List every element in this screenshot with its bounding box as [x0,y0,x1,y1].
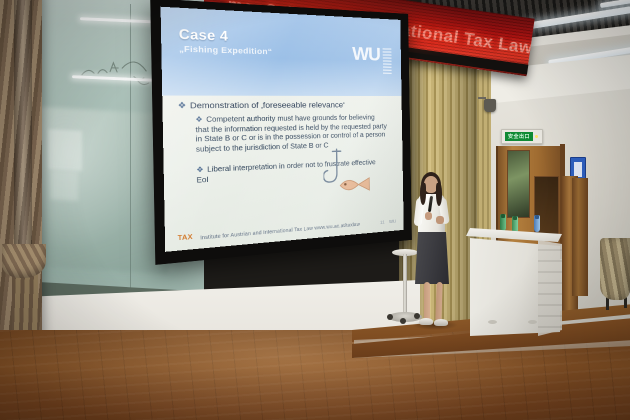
wall-speaker-icon [484,99,496,112]
slide-title: Case 4 [179,26,229,44]
blue-wall-sign-inner [574,162,582,177]
presenter-hand-left [425,212,432,220]
stool-caster [400,318,406,324]
bullet-marker: ❖ [195,116,202,124]
presenter-skirt [415,232,449,284]
footer-logo: TAX [178,234,193,242]
curtain-tieback [2,244,46,278]
water-bottle [500,214,506,231]
lecture-hall-photo: 安全出口 mer School of International Tax Law… [0,0,630,420]
podium-foot [528,320,537,324]
bullet-marker: ❖ [178,100,187,110]
exit-sign: 安全出口 [501,129,543,144]
whiteboard-handwriting [77,57,158,92]
footer-page-number: 11 [380,219,384,224]
draped-cloth [600,238,630,300]
slide-bullet: ❖Competent authority must have grounds f… [195,114,387,155]
glass-window-reflection [48,129,82,171]
exit-sign-indicator [535,135,538,138]
presenter-shoe-left [419,318,433,325]
slide-subtitle: „Fishing Expedition“ [179,44,272,57]
footer-mark: WU [389,218,396,224]
water-bottle [512,216,518,233]
door-glass-pane [507,150,530,218]
presenter-leg-left [424,282,430,322]
bullet-marker: ❖ [196,166,203,174]
presenter-shoe-right [434,319,448,326]
stool-caster [414,313,420,319]
podium-foot [488,320,497,324]
glass-window-reflection [50,169,78,201]
bullet-text: Competent authority must have grounds fo… [195,114,386,153]
stool-caster [387,314,393,320]
stool-post [403,254,407,316]
slide-header: Case 4 „Fishing Expedition“ WU [161,7,402,96]
presenter-hand-right [436,216,444,224]
secondary-door[interactable] [572,178,588,296]
wu-logo-bars [383,47,392,74]
presenter-hair-left [420,183,426,205]
projection-screen: Case 4 „Fishing Expedition“ WU ❖Demonstr… [161,7,404,252]
bullet-text: Demonstration of ‚foreseeable relevance‘ [190,100,345,111]
glass-panel-seam [130,4,131,294]
water-bottle [534,215,540,232]
podium-side-panel [538,240,562,336]
fish-icon [338,174,372,197]
presenter-hair-right [436,183,442,206]
exit-sign-label: 安全出口 [505,132,533,141]
wu-logo: WU [352,44,380,63]
slide-bullet: ❖Demonstration of ‚foreseeable relevance… [178,100,387,112]
